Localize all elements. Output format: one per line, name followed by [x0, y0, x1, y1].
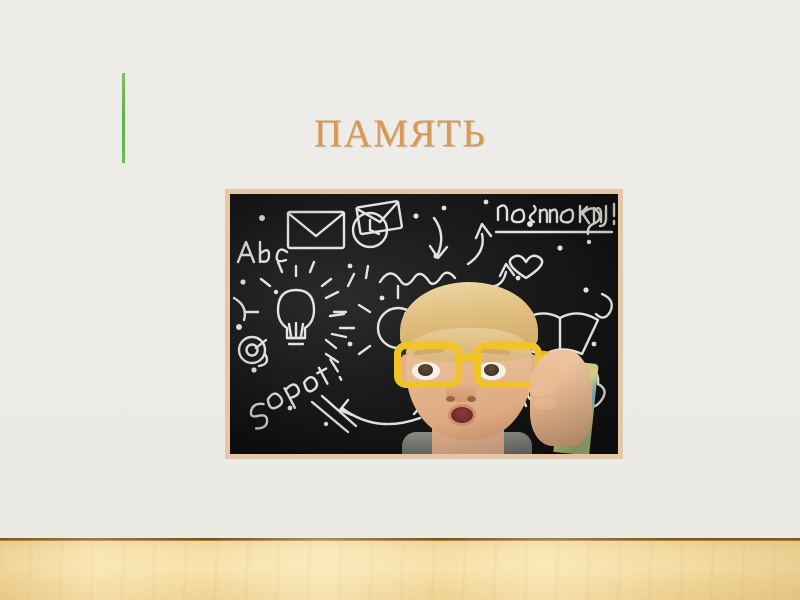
wooden-floor-strip	[0, 538, 800, 600]
sport-chalk-text	[244, 359, 345, 430]
boy-nostril-right	[467, 396, 476, 402]
glasses-lens-left	[394, 342, 462, 388]
no-smoking-chalk-text	[496, 204, 614, 232]
left-arc-doodle	[234, 298, 245, 320]
yellow-glasses	[388, 342, 554, 388]
chalk-dashes	[326, 266, 368, 362]
boy-nostril-left	[446, 396, 455, 402]
boy-mouth	[448, 404, 476, 426]
photo-frame	[226, 190, 622, 458]
boy-finger-3	[534, 398, 557, 409]
abc-chalk-text	[238, 242, 287, 262]
floor-grain	[0, 541, 800, 600]
title-accent-bar	[122, 73, 125, 163]
at-symbol-doodle	[239, 337, 267, 366]
chalkboard-photo	[230, 194, 618, 454]
envelope-small-icon	[356, 201, 402, 234]
presentation-slide: ПАМЯТЬ	[0, 0, 800, 600]
boy-figure	[380, 249, 590, 454]
envelope-large-icon	[288, 212, 344, 248]
glasses-bridge	[460, 354, 476, 361]
lightbulb-icon	[246, 262, 346, 348]
page-title: ПАМЯТЬ	[150, 112, 650, 156]
right-swirl-doodle	[596, 294, 612, 318]
question-mark-icon	[582, 208, 600, 244]
